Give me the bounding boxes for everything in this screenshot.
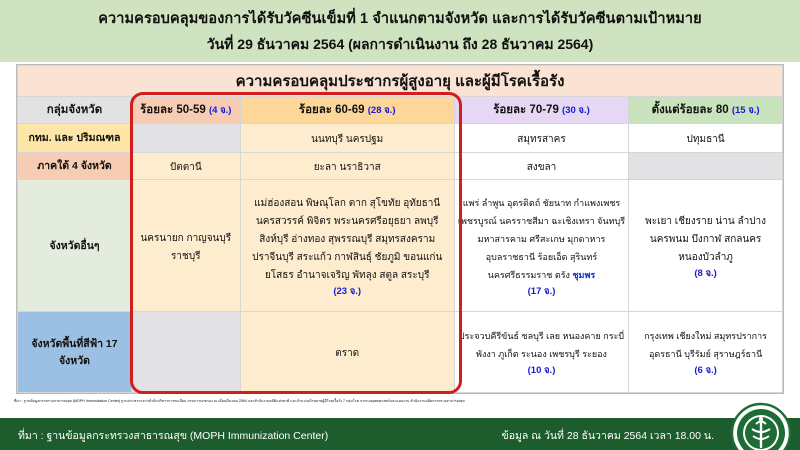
cell-count: (17 จ.)	[458, 284, 625, 299]
title-banner: ความครอบคลุมของการได้รับวัคซีนเข็มที่ 1 …	[0, 0, 800, 62]
cell-text: ปัตตานี	[170, 162, 202, 173]
row-south-pct-50-59: ปัตตานี	[131, 152, 240, 179]
moph-seal-icon	[730, 402, 792, 450]
row-blue-pct-60-69: ตราด	[240, 312, 454, 393]
row-label-bangkok: กทม. และ ปริมณฑล	[18, 123, 132, 152]
bottom-bar: ที่มา : ฐานข้อมูลกระทรวงสาธารณสุข (MOPH …	[0, 418, 800, 450]
row-blue-pct-80-plus: กรุงเทพ เชียงใหม่ สมุทรปราการ อุดรธานี บ…	[629, 312, 783, 393]
row-label-other-provinces: จังหวัดอื่นๆ	[18, 179, 132, 311]
title-line-2: วันที่ 29 ธันวาคม 2564 (ผลการดำเนินงาน ถ…	[207, 34, 594, 56]
header-pct-80-plus: ตั้งแต่ร้อยละ 80 (15 จ.)	[629, 97, 783, 124]
row-blue-pct-70-79: ประจวบคีรีขันธ์ ชลบุรี เลย หนองคาย กระบี…	[454, 312, 628, 393]
header-pct-60-69: ร้อยละ 60-69 (28 จ.)	[240, 97, 454, 124]
header-pct-50-59: ร้อยละ 50-59 (4 จ.)	[131, 97, 240, 124]
row-south-pct-80-plus	[629, 152, 783, 179]
table-row: ภาคใต้ 4 จังหวัด ปัตตานี ยะลา นราธิวาส ส…	[18, 152, 783, 179]
row-label-blue-zone: จังหวัดพื้นที่สีฟ้า 17 จังหวัด	[18, 312, 132, 393]
coverage-table-container: ความครอบคลุมประชากรผู้สูงอายุ และผู้มีโร…	[16, 64, 784, 394]
header-group: กลุ่มจังหวัด	[18, 97, 132, 124]
cell-text: สมุทรสาคร	[517, 134, 565, 145]
row-south-pct-70-79: สงขลา	[454, 152, 628, 179]
header-pct-60-69-label: ร้อยละ 60-69	[299, 104, 365, 116]
row-blue-pct-50-59	[131, 312, 240, 393]
row-bangkok-pct-50-59	[131, 123, 240, 152]
slide-root: ความครอบคลุมของการได้รับวัคซีนเข็มที่ 1 …	[0, 0, 800, 450]
header-pct-50-59-count: (4 จ.)	[209, 105, 231, 116]
footnote-source: ที่มา : ฐานข้อมูลกระทรวงสาธารณสุข (MOPH …	[14, 399, 714, 404]
row-other-pct-50-59: นครนายก กาญจนบุรี ราชบุรี	[131, 179, 240, 311]
cell-count: (6 จ.)	[632, 363, 779, 378]
header-pct-70-79-count: (30 จ.)	[562, 105, 590, 116]
cell-text-main: แพร่ ลำพูน อุตรดิตถ์ ชัยนาท กำแพงเพชร เพ…	[458, 198, 625, 280]
table-header-row: กลุ่มจังหวัด ร้อยละ 50-59 (4 จ.) ร้อยละ …	[18, 97, 783, 124]
header-pct-80-plus-label: ตั้งแต่ร้อยละ 80	[652, 104, 729, 116]
cell-count: (10 จ.)	[458, 363, 625, 378]
row-label-south: ภาคใต้ 4 จังหวัด	[18, 152, 132, 179]
row-other-pct-80-plus: พะเยา เชียงราย น่าน ลำปาง นครพนม บึงกาฬ …	[629, 179, 783, 311]
table-row: กทม. และ ปริมณฑล นนทบุรี นครปฐม สมุทรสาค…	[18, 123, 783, 152]
row-other-pct-70-79: แพร่ ลำพูน อุตรดิตถ์ ชัยนาท กำแพงเพชร เพ…	[454, 179, 628, 311]
row-south-pct-60-69: ยะลา นราธิวาส	[240, 152, 454, 179]
table-banner-cell: ความครอบคลุมประชากรผู้สูงอายุ และผู้มีโร…	[18, 66, 783, 97]
cell-text: นครนายก กาญจนบุรี ราชบุรี	[140, 233, 231, 262]
cell-text: ตราด	[335, 348, 359, 359]
cell-text: พะเยา เชียงราย น่าน ลำปาง นครพนม บึงกาฬ …	[645, 216, 766, 263]
table-row: จังหวัดอื่นๆ นครนายก กาญจนบุรี ราชบุรี แ…	[18, 179, 783, 311]
header-pct-50-59-label: ร้อยละ 50-59	[140, 104, 206, 116]
cell-text: ประจวบคีรีขันธ์ ชลบุรี เลย หนองคาย กระบี…	[459, 331, 624, 359]
cell-text: ยะลา นราธิวาส	[314, 162, 381, 173]
cell-text-highlight: ชุมพร	[572, 270, 595, 280]
cell-text: แม่ฮ่องสอน พิษณุโลก ตาก สุโขทัย อุทัยธาน…	[252, 198, 442, 281]
title-line-1: ความครอบคลุมของการได้รับวัคซีนเข็มที่ 1 …	[98, 7, 702, 30]
header-pct-80-plus-count: (15 จ.)	[732, 105, 760, 116]
cell-text: กรุงเทพ เชียงใหม่ สมุทรปราการ อุดรธานี บ…	[644, 331, 767, 359]
cell-count: (8 จ.)	[632, 266, 779, 281]
header-pct-60-69-count: (28 จ.)	[368, 105, 396, 116]
header-pct-70-79-label: ร้อยละ 70-79	[493, 104, 559, 116]
bottom-asof-text: ข้อมูล ณ วันที่ 28 ธันวาคม 2564 เวลา 18.…	[502, 427, 714, 444]
row-bangkok-pct-80-plus: ปทุมธานี	[629, 123, 783, 152]
coverage-table: ความครอบคลุมประชากรผู้สูงอายุ และผู้มีโร…	[17, 65, 783, 393]
header-pct-70-79: ร้อยละ 70-79 (30 จ.)	[454, 97, 628, 124]
row-bangkok-pct-70-79: สมุทรสาคร	[454, 123, 628, 152]
cell-text: นนทบุรี นครปฐม	[311, 134, 383, 145]
cell-text: ปทุมธานี	[687, 134, 725, 145]
table-row: จังหวัดพื้นที่สีฟ้า 17 จังหวัด ตราด ประจ…	[18, 312, 783, 393]
bottom-source-text: ที่มา : ฐานข้อมูลกระทรวงสาธารณสุข (MOPH …	[18, 427, 328, 444]
row-other-pct-60-69: แม่ฮ่องสอน พิษณุโลก ตาก สุโขทัย อุทัยธาน…	[240, 179, 454, 311]
cell-count: (23 จ.)	[244, 284, 451, 299]
row-bangkok-pct-60-69: นนทบุรี นครปฐม	[240, 123, 454, 152]
cell-text: สงขลา	[527, 162, 557, 173]
cell-text: แพร่ ลำพูน อุตรดิตถ์ ชัยนาท กำแพงเพชร เพ…	[458, 198, 625, 280]
table-banner-row: ความครอบคลุมประชากรผู้สูงอายุ และผู้มีโร…	[18, 66, 783, 97]
